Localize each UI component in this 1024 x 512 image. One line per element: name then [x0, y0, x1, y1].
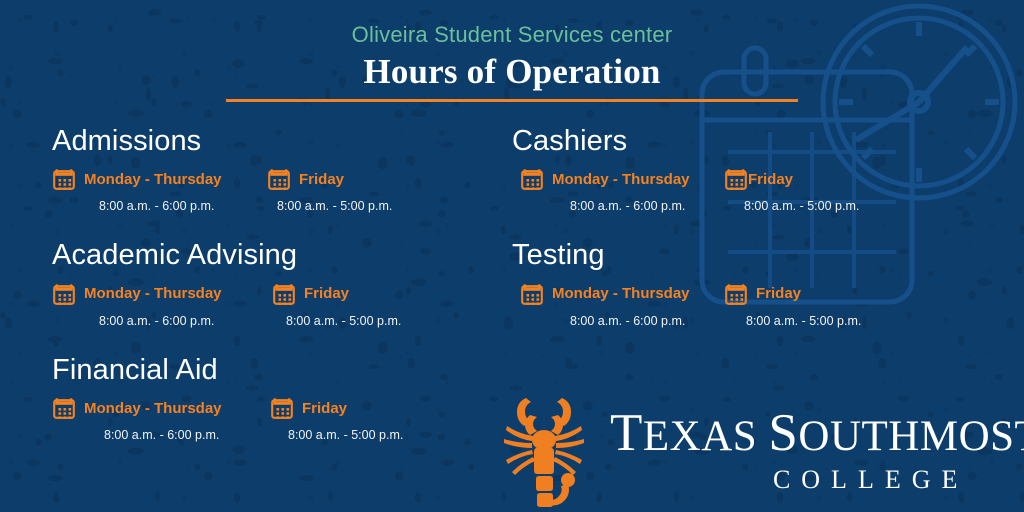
calendar-icon	[520, 167, 544, 191]
slot-hours-text: 8:00 a.m. - 6:00 p.m.	[104, 429, 222, 442]
hours-slot: Friday 8:00 a.m. - 5:00 p.m.	[724, 167, 859, 213]
slot-header: Friday	[272, 282, 401, 306]
calendar-icon	[52, 167, 76, 191]
slot-day-label: Monday - Thursday	[552, 172, 690, 187]
logo-wordmark: TEXAS SOUTHMOST COLLEGE	[610, 407, 1024, 493]
calendar-icon	[520, 282, 544, 306]
calendar-icon	[270, 396, 294, 420]
slot-day-label: Friday	[304, 286, 349, 301]
slot-hours-text: 8:00 a.m. - 5:00 p.m.	[746, 315, 861, 328]
hours-slot-row: Monday - Thursday 8:00 a.m. - 6:00 p.m. …	[52, 282, 482, 332]
slot-day-label: Monday - Thursday	[552, 286, 690, 301]
department-block: Admissions Monday - Thursday 8:00 a.m. -…	[52, 125, 482, 217]
slot-header: Friday	[724, 282, 861, 306]
hours-slot: Friday 8:00 a.m. - 5:00 p.m.	[270, 396, 403, 442]
slot-header: Friday	[267, 167, 392, 191]
department-name: Cashiers	[512, 125, 942, 158]
slot-hours-text: 8:00 a.m. - 6:00 p.m.	[570, 315, 690, 328]
hours-slot: Monday - Thursday 8:00 a.m. - 6:00 p.m.	[52, 396, 222, 442]
slot-header: Friday	[724, 167, 859, 191]
department-block: Academic Advising Monday - Thursday 8:00…	[52, 239, 482, 331]
department-name: Admissions	[52, 125, 482, 158]
slot-header: Friday	[270, 396, 403, 420]
hours-slot: Monday - Thursday 8:00 a.m. - 6:00 p.m.	[520, 167, 690, 213]
hours-slot-row: Monday - Thursday 8:00 a.m. - 6:00 p.m. …	[512, 282, 942, 332]
slot-day-label: Friday	[748, 172, 793, 187]
calendar-icon	[267, 167, 291, 191]
hours-slot-row: Monday - Thursday 8:00 a.m. - 6:00 p.m. …	[52, 396, 482, 446]
hours-slot: Monday - Thursday 8:00 a.m. - 6:00 p.m.	[520, 282, 690, 328]
hours-slot: Friday 8:00 a.m. - 5:00 p.m.	[267, 167, 392, 213]
slot-hours-text: 8:00 a.m. - 6:00 p.m.	[99, 200, 222, 213]
slot-day-label: Friday	[302, 401, 347, 416]
slot-hours-text: 8:00 a.m. - 5:00 p.m.	[286, 315, 401, 328]
institution-logo: TEXAS SOUTHMOST COLLEGE	[500, 392, 1020, 508]
calendar-icon	[272, 282, 296, 306]
department-name: Academic Advising	[52, 239, 482, 272]
slot-hours-text: 8:00 a.m. - 5:00 p.m.	[288, 429, 403, 442]
header: Oliveira Student Services center Hours o…	[0, 22, 1024, 92]
hours-slot: Monday - Thursday 8:00 a.m. - 6:00 p.m.	[52, 282, 222, 328]
slot-header: Monday - Thursday	[520, 282, 690, 306]
slot-hours-text: 8:00 a.m. - 6:00 p.m.	[99, 315, 222, 328]
department-block: Financial Aid Monday - Thursday 8:00 a.m…	[52, 354, 482, 446]
slot-header: Monday - Thursday	[520, 167, 690, 191]
department-column-right: Cashiers Monday - Thursday 8:00 a.m. - 6…	[512, 125, 942, 354]
calendar-icon	[724, 282, 748, 306]
department-name: Testing	[512, 239, 942, 272]
calendar-icon	[724, 167, 748, 191]
slot-header: Monday - Thursday	[52, 396, 222, 420]
logo-line-secondary: COLLEGE	[610, 467, 1024, 493]
slot-day-label: Friday	[756, 286, 801, 301]
page-title: Hours of Operation	[0, 52, 1024, 92]
slot-hours-text: 8:00 a.m. - 5:00 p.m.	[277, 200, 392, 213]
hours-slot: Friday 8:00 a.m. - 5:00 p.m.	[724, 282, 861, 328]
slot-hours-text: 8:00 a.m. - 6:00 p.m.	[570, 200, 690, 213]
department-name: Financial Aid	[52, 354, 482, 387]
slot-header: Monday - Thursday	[52, 282, 222, 306]
slot-header: Monday - Thursday	[52, 167, 222, 191]
slot-hours-text: 8:00 a.m. - 5:00 p.m.	[744, 200, 859, 213]
hours-slot-row: Monday - Thursday 8:00 a.m. - 6:00 p.m. …	[52, 167, 482, 217]
calendar-icon	[52, 282, 76, 306]
hours-slot: Friday 8:00 a.m. - 5:00 p.m.	[272, 282, 401, 328]
hours-slot-row: Monday - Thursday 8:00 a.m. - 6:00 p.m. …	[512, 167, 942, 217]
slot-day-label: Friday	[299, 172, 344, 187]
slot-day-label: Monday - Thursday	[84, 286, 222, 301]
department-block: Cashiers Monday - Thursday 8:00 a.m. - 6…	[512, 125, 942, 217]
header-divider-rule	[226, 99, 798, 102]
department-block: Testing Monday - Thursday 8:00 a.m. - 6:…	[512, 239, 942, 331]
calendar-icon	[52, 396, 76, 420]
department-column-left: Admissions Monday - Thursday 8:00 a.m. -…	[52, 125, 482, 468]
header-eyebrow: Oliveira Student Services center	[0, 22, 1024, 48]
poster-canvas: Oliveira Student Services center Hours o…	[0, 0, 1024, 512]
logo-line-primary: TEXAS SOUTHMOST	[610, 407, 1024, 460]
scorpion-logo-icon	[500, 392, 604, 508]
hours-slot: Monday - Thursday 8:00 a.m. - 6:00 p.m.	[52, 167, 222, 213]
slot-day-label: Monday - Thursday	[84, 401, 222, 416]
slot-day-label: Monday - Thursday	[84, 172, 222, 187]
